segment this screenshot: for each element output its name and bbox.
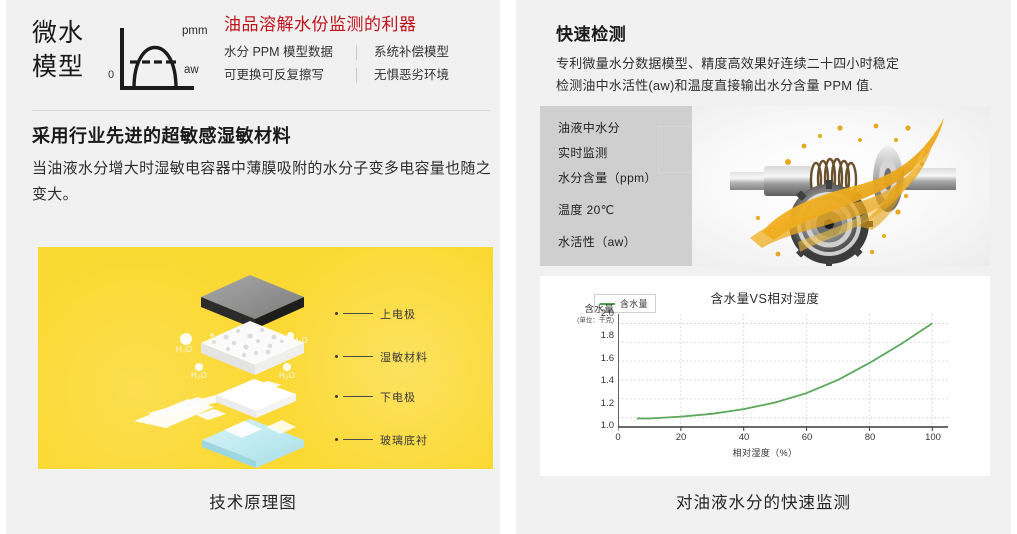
brand-label-pmm: pmm [182, 25, 208, 37]
chart-x-tick: 40 [724, 432, 764, 443]
leader-line [343, 313, 373, 314]
right-panel-caption: 对油液水分的快速监测 [516, 489, 1011, 513]
feature-row: 可更换可反复擦写 无惧恶劣环境 [224, 66, 494, 84]
leader-line [343, 356, 373, 357]
chart-gridlines [618, 314, 948, 427]
layer-label-group: 上电极 湿敏材料 下电极 玻璃底衬 [38, 247, 493, 469]
chart-x-tick: 60 [787, 432, 827, 443]
chart-y-tick: 1.8 [574, 330, 614, 341]
legend-label: 含水量 [620, 297, 648, 310]
feature-cell-right: 系统补偿模型 [357, 43, 449, 61]
right-panel-title: 快速检测 [556, 22, 986, 48]
chart-x-tick: 20 [661, 432, 701, 443]
leader-dot [335, 312, 338, 315]
right-panel-header: 快速检测 专利微量水分数据模型、精度高效果好连续二十四小时稳定 检测油中水活性(… [556, 22, 986, 97]
chart-plot-area: 1.0 1.2 1.4 1.6 1.8 2.0 0 20 40 60 80 10… [618, 314, 948, 426]
chart-y-tick: 2.0 [574, 308, 614, 319]
chart-x-axis-label: 相对湿度（%） [540, 446, 990, 459]
section-description: 当油液水分增大时湿敏电容器中薄膜吸附的水分子变多电容量也随之变大。 [32, 156, 492, 208]
chart-x-tick: 80 [850, 432, 890, 443]
brand-title-line2: 模型 [32, 50, 84, 84]
leader-dot [335, 438, 338, 441]
oil-gear-graphic [692, 106, 990, 266]
technical-principle-figure: H₂O H₂O H₂O H₂O 上电极 湿敏材料 下电极 [38, 247, 493, 469]
feature-grid: 水分 PPM 模型数据 系统补偿模型 可更换可反复擦写 无惧恶劣环境 [224, 43, 494, 84]
right-panel-desc-line2: 检测油中水活性(aw)和温度直接输出水分含量 PPM 值. [556, 75, 986, 97]
header-divider [32, 110, 490, 111]
chart-y-tick: 1.4 [574, 375, 614, 386]
page-root: 微水 模型 0 pmm aw 油 [0, 0, 1017, 534]
brand-block: 微水 模型 0 pmm aw [32, 14, 212, 100]
feature-cell-left: 可更换可反复擦写 [224, 66, 356, 84]
feature-cell-right: 无惧恶劣环境 [357, 66, 449, 84]
spec-list-box: 油液中水分 实时监测 水分含量（ppm） 温度 20℃ 水活性（aw） [540, 106, 692, 266]
chart-x-tick: 0 [598, 432, 638, 443]
spec-item: 水活性（aw） [558, 230, 688, 255]
spec-item: 温度 20℃ [558, 198, 688, 223]
kicker-text: 油品溶解水份监测的利器 [224, 14, 494, 36]
brand-title: 微水 模型 [32, 16, 84, 84]
chart-y-tick: 1.2 [574, 398, 614, 409]
leader-dot [335, 395, 338, 398]
left-panel: 微水 模型 0 pmm aw 油 [6, 0, 500, 534]
left-panel-body: 采用行业先进的超敏感湿敏材料 当油液水分增大时湿敏电容器中薄膜吸附的水分子变多电… [32, 122, 492, 208]
leader-dot [335, 355, 338, 358]
brand-label-aw: aw [184, 64, 199, 76]
section-title: 采用行业先进的超敏感湿敏材料 [32, 122, 492, 150]
layer-label-glass-substrate: 玻璃底衬 [380, 432, 428, 448]
layer-label-humidity-material: 湿敏材料 [380, 349, 428, 365]
layer-label-bottom-electrode: 下电极 [380, 389, 416, 405]
chart-svg [618, 314, 948, 432]
header-feature-block: 油品溶解水份监测的利器 水分 PPM 模型数据 系统补偿模型 可更换可反复擦写 … [224, 14, 494, 84]
feature-cell-left: 水分 PPM 模型数据 [224, 43, 356, 61]
left-panel-header: 微水 模型 0 pmm aw 油 [32, 14, 492, 100]
chart-x-tick: 100 [913, 432, 953, 443]
left-panel-caption: 技术原理图 [6, 489, 500, 513]
measurement-media-block: 油液中水分 实时监测 水分含量（ppm） 温度 20℃ 水活性（aw） [540, 106, 990, 266]
humidity-chart-card: 含水量VS相对湿度 含水量 含水量 (单位：千克) 相对湿度（%） 1.0 1.… [540, 276, 990, 476]
layer-label-top-electrode: 上电极 [380, 306, 416, 322]
right-panel-desc-line1: 专利微量水分数据模型、精度高效果好连续二十四小时稳定 [556, 53, 986, 75]
leader-line [343, 439, 373, 440]
leader-line [343, 396, 373, 397]
feature-row: 水分 PPM 模型数据 系统补偿模型 [224, 43, 494, 61]
chart-y-tick: 1.6 [574, 353, 614, 364]
brand-title-line1: 微水 [32, 16, 84, 50]
oil-splash-gear-bearing-image [692, 106, 990, 266]
brand-axis-zero-label: 0 [108, 69, 114, 81]
chart-y-tick: 1.0 [574, 420, 614, 431]
